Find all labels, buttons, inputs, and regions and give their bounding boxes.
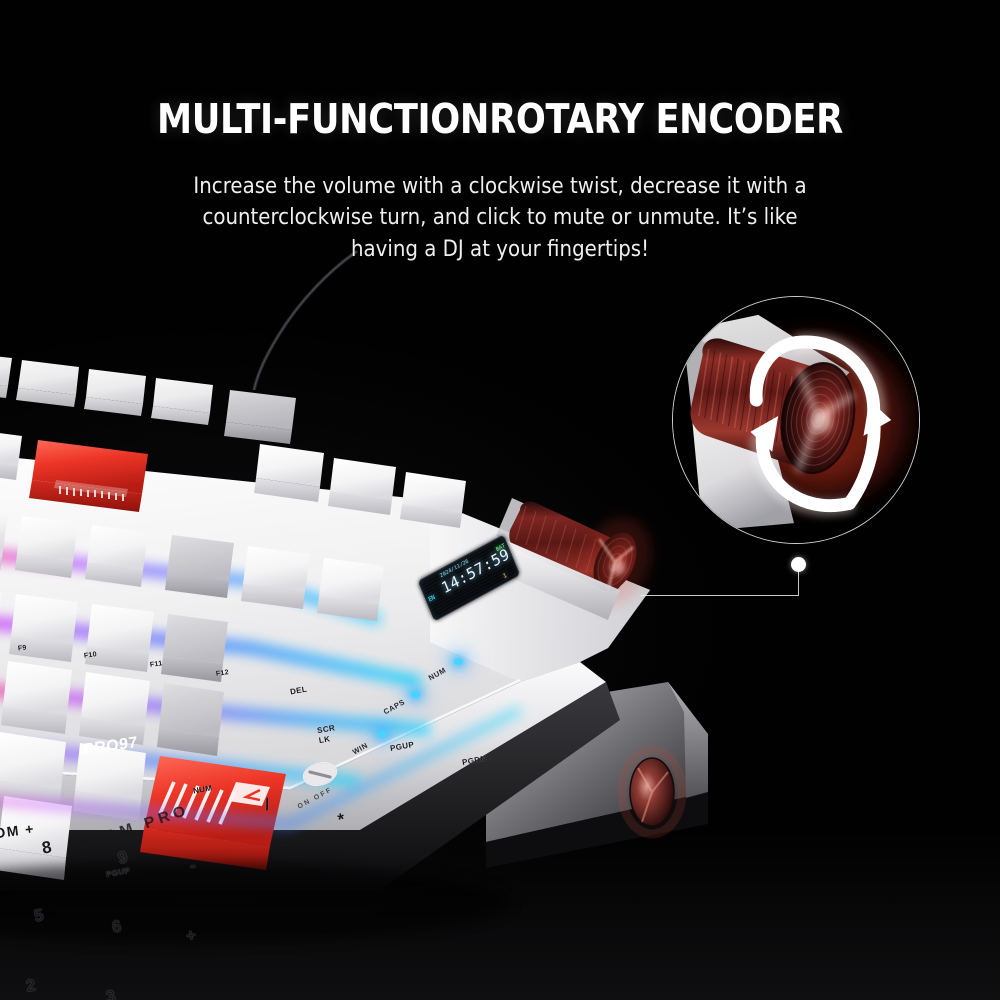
keyboard-product-photo: F9 F10 F11 F12 DEL SCR LK PGUP PGDN PRO9… xyxy=(0,290,680,970)
page-subtitle: Increase the volume with a clockwise twi… xyxy=(167,171,833,265)
keyboard-render xyxy=(0,290,680,970)
caps-lock-led xyxy=(411,691,420,698)
callout-connector-line-vertical xyxy=(798,570,799,596)
callout-connector-dot xyxy=(791,557,806,572)
num-lock-led xyxy=(454,658,463,665)
page-title: MULTI-FUNCTIONROTARY ENCODER xyxy=(70,98,930,141)
hero-header: MULTI-FUNCTIONROTARY ENCODER Increase th… xyxy=(0,98,1000,265)
callout-connector-line-horizontal xyxy=(640,595,798,596)
win-lock-led xyxy=(378,731,387,738)
zoom-callout-circle xyxy=(672,296,920,544)
product-hero-stage: MULTI-FUNCTIONROTARY ENCODER Increase th… xyxy=(0,0,1000,1000)
callout-illustration xyxy=(673,297,919,543)
